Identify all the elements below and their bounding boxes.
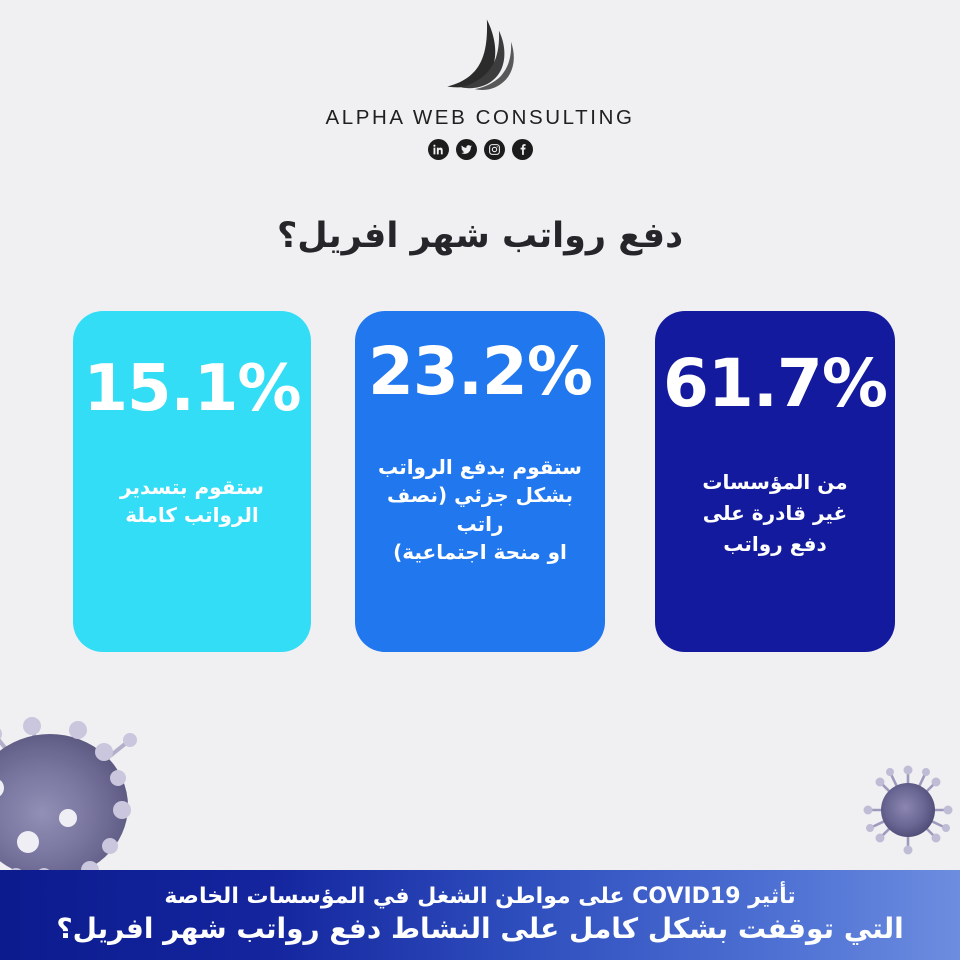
brand-name: ALPHA WEB CONSULTING [325, 106, 634, 130]
stat-card-partial-salaries: 23.2% ستقوم بدفع الرواتب بشكل جزئي (نصف … [355, 311, 605, 652]
stat-caption-line: من المؤسسات [702, 467, 847, 498]
stat-card-unable-to-pay: 61.7% من المؤسسات غير قادرة على دفع روات… [655, 311, 895, 652]
page-title: دفع رواتب شهر افريل؟ [0, 216, 960, 256]
banner-line-2: التي توقفت بشكل كامل على النشاط دفع روات… [56, 913, 903, 945]
facebook-icon[interactable] [512, 139, 533, 160]
instagram-icon[interactable] [484, 139, 505, 160]
stat-value: 23.2% [368, 339, 592, 405]
stat-caption-line: ستقوم بتسدير [120, 473, 264, 501]
stat-caption-line: بشكل جزئي (نصف راتب [371, 481, 589, 538]
twitter-icon[interactable] [456, 139, 477, 160]
coronavirus-icon [0, 700, 188, 888]
stat-caption-line: الرواتب كاملة [120, 501, 264, 529]
coronavirus-icon [860, 762, 956, 858]
stat-caption-line: دفع رواتب [702, 529, 847, 560]
stat-caption-line: غير قادرة على [702, 498, 847, 529]
stat-caption: ستقوم بتسدير الرواتب كاملة [104, 473, 280, 530]
swoosh-wing-logo [437, 16, 523, 102]
stat-caption: ستقوم بدفع الرواتب بشكل جزئي (نصف راتب ا… [355, 453, 605, 567]
stat-cards-row: 15.1% ستقوم بتسدير الرواتب كاملة 23.2% س… [0, 311, 960, 656]
stat-caption-line: ستقوم بدفع الرواتب [371, 453, 589, 481]
stat-caption: من المؤسسات غير قادرة على دفع رواتب [686, 467, 863, 560]
banner-line-1: تأثير COVID19 على مواطن الشغل في المؤسسا… [164, 885, 795, 909]
stat-card-full-salaries: 15.1% ستقوم بتسدير الرواتب كاملة [73, 311, 311, 652]
brand-header: ALPHA WEB CONSULTING [0, 0, 960, 185]
linkedin-icon[interactable] [428, 139, 449, 160]
social-links[interactable] [428, 139, 533, 160]
stat-value: 15.1% [83, 357, 300, 421]
stat-value: 61.7% [663, 351, 887, 417]
bottom-banner: تأثير COVID19 على مواطن الشغل في المؤسسا… [0, 870, 960, 960]
stat-caption-line: او منحة اجتماعية) [371, 538, 589, 566]
